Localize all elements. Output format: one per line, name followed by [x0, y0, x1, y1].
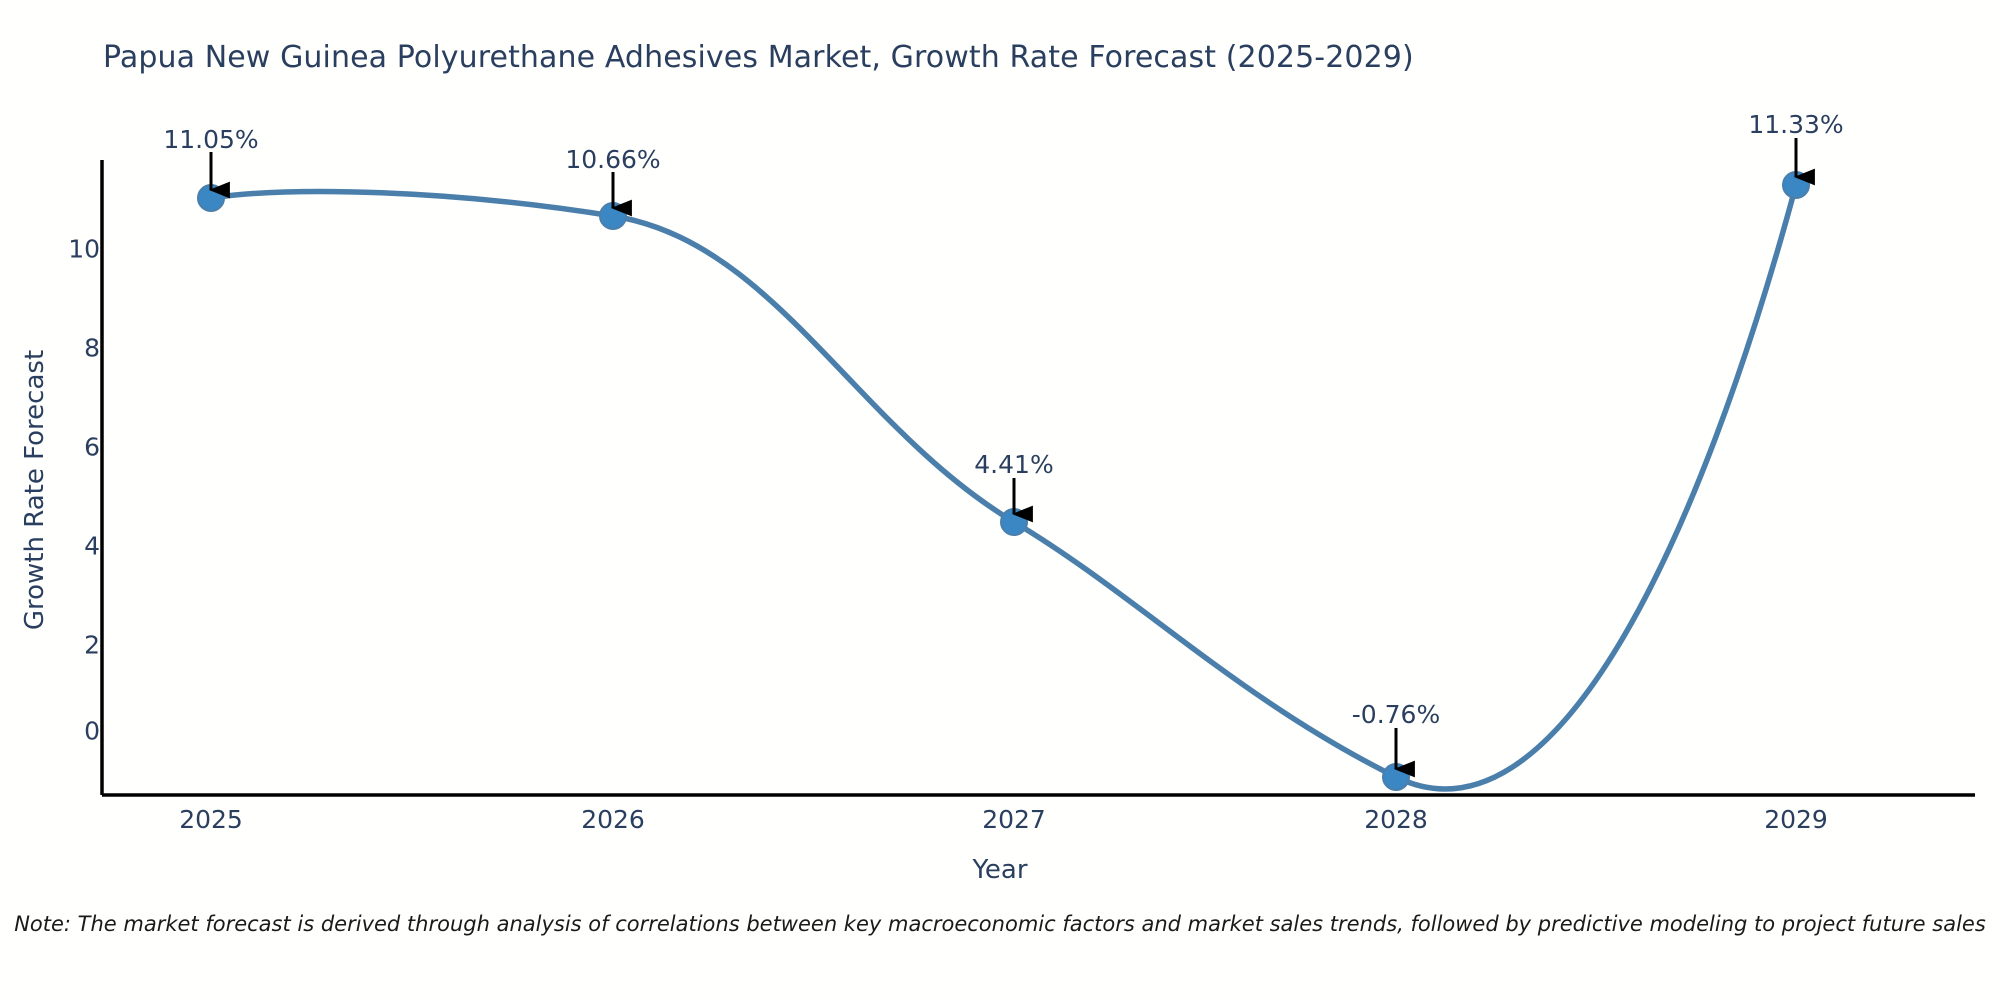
plot-area [0, 0, 2000, 1000]
series-line [211, 185, 1796, 789]
footnote: Note: The market forecast is derived thr… [0, 912, 2000, 936]
chart-container: Papua New Guinea Polyurethane Adhesives … [0, 0, 2000, 1000]
